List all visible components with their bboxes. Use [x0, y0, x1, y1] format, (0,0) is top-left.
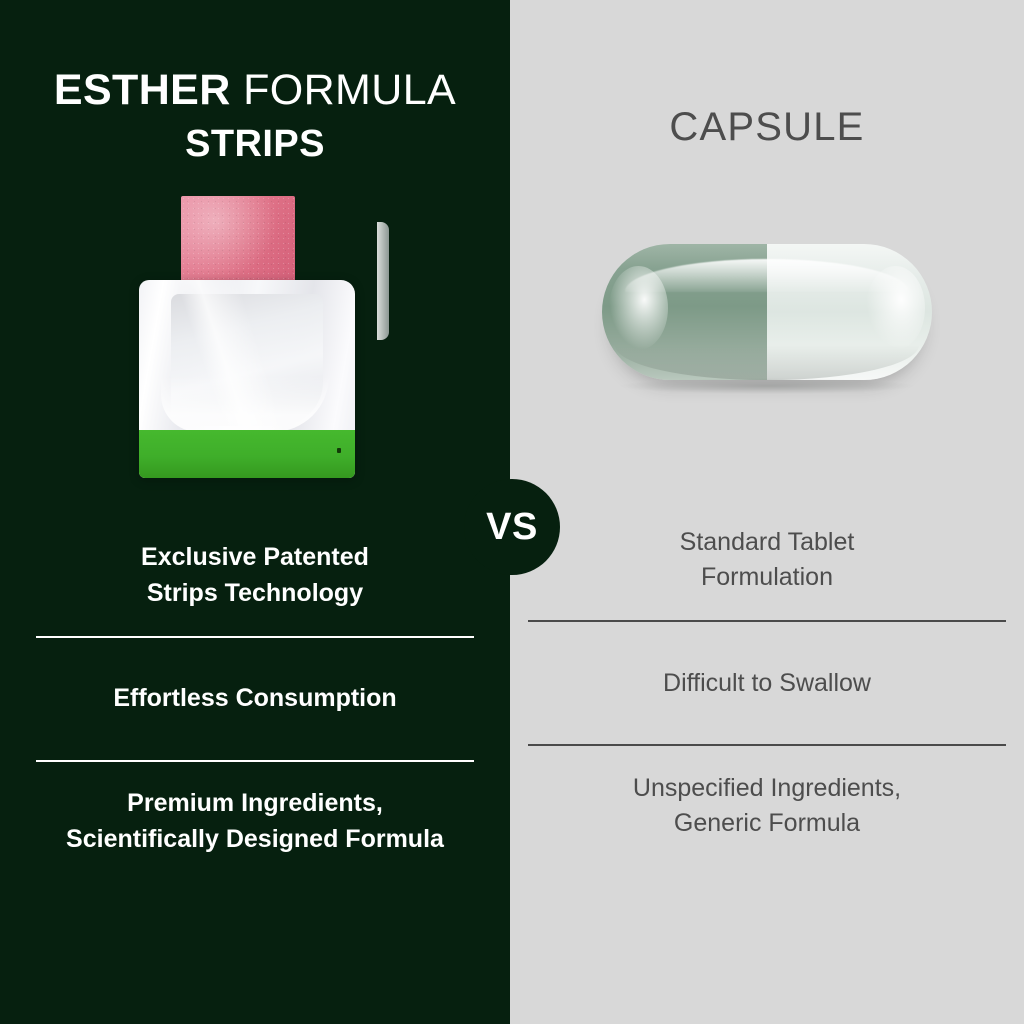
left-feature-1-line-1: Exclusive Patented	[141, 543, 369, 571]
strip-sachet-image	[125, 188, 385, 478]
capsule-right-edge-highlight	[866, 266, 925, 350]
left-feature-item-1: Exclusive Patented Strips Technology	[36, 516, 474, 636]
capsule-body	[602, 244, 932, 380]
heading-line-2: STRIPS	[0, 122, 510, 166]
right-feature-3-line-1: Unspecified Ingredients,	[633, 774, 901, 802]
left-feature-1-line-2: Strips Technology	[147, 579, 363, 607]
white-pouch	[139, 280, 355, 478]
vs-badge: VS	[464, 479, 560, 575]
right-feature-1-line-2: Formulation	[701, 563, 833, 591]
left-feature-3-line-1: Premium Ingredients,	[127, 789, 383, 817]
left-feature-list: Exclusive Patented Strips Technology Eff…	[0, 516, 510, 1024]
left-feature-item-3: Premium Ingredients, Scientifically Desi…	[36, 762, 474, 882]
right-feature-1-line-1: Standard Tablet	[680, 528, 855, 556]
panel-capsule: CAPSULE Standard Tablet Formulation	[510, 0, 1024, 1024]
capsule-left-edge-highlight	[609, 266, 668, 350]
right-feature-item-2: Difficult to Swallow	[528, 622, 1006, 744]
green-pouch-base	[139, 430, 355, 478]
capsule-image	[602, 244, 932, 380]
panel-esther-formula-strips: ESTHER FORMULA STRIPS Exclusive Patented…	[0, 0, 510, 1024]
capsule-ground-shadow	[617, 378, 917, 394]
brand-name: ESTHER	[54, 66, 231, 114]
product-comparison-infographic: ESTHER FORMULA STRIPS Exclusive Patented…	[0, 0, 1024, 1024]
right-panel-heading: CAPSULE	[510, 0, 1024, 150]
left-product-stage	[0, 188, 510, 488]
product-word: FORMULA	[231, 66, 456, 114]
left-feature-2-line-1: Effortless Consumption	[113, 681, 396, 717]
left-panel-heading: ESTHER FORMULA STRIPS	[0, 0, 510, 166]
right-feature-item-1: Standard Tablet Formulation	[528, 500, 1006, 620]
right-feature-item-3: Unspecified Ingredients, Generic Formula	[528, 746, 1006, 866]
right-feature-2-line-1: Difficult to Swallow	[663, 666, 871, 702]
vs-label: VS	[486, 508, 538, 546]
left-feature-3-line-2: Scientifically Designed Formula	[66, 825, 444, 853]
left-feature-item-2: Effortless Consumption	[36, 638, 474, 760]
right-product-stage	[510, 172, 1024, 472]
right-feature-3-line-2: Generic Formula	[674, 809, 860, 837]
right-feature-list: Standard Tablet Formulation Difficult to…	[510, 500, 1024, 1024]
pouch-side-seam	[377, 222, 389, 340]
